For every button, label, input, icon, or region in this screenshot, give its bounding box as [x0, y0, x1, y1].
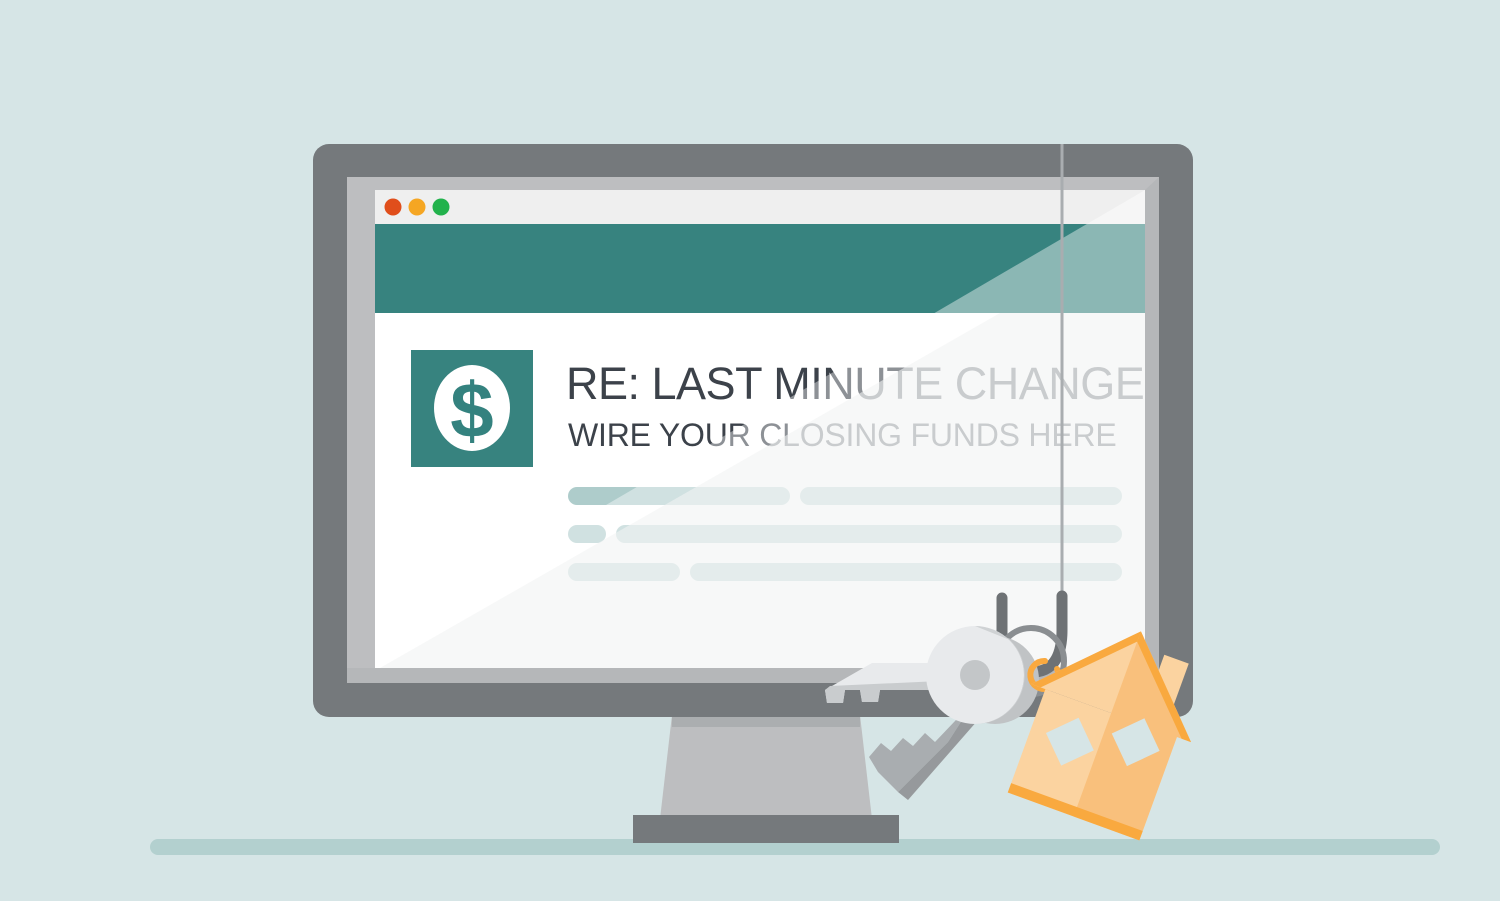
browser-window: $ RE: LAST MINUTE CHANGE WIRE YOUR CLOSI…: [375, 190, 1145, 668]
monitor-stand: [633, 715, 899, 843]
browser-titlebar: [375, 190, 1145, 224]
close-button[interactable]: [385, 199, 402, 216]
stand-neck: [660, 715, 872, 819]
dollar-sign-icon: $: [411, 350, 533, 467]
dollar-icon-glyph: $: [450, 366, 493, 454]
minimize-button[interactable]: [409, 199, 426, 216]
illustration-scene: $ RE: LAST MINUTE CHANGE WIRE YOUR CLOSI…: [0, 0, 1500, 901]
front-key-hole: [960, 660, 990, 690]
stand-base: [633, 815, 899, 843]
maximize-button[interactable]: [433, 199, 450, 216]
